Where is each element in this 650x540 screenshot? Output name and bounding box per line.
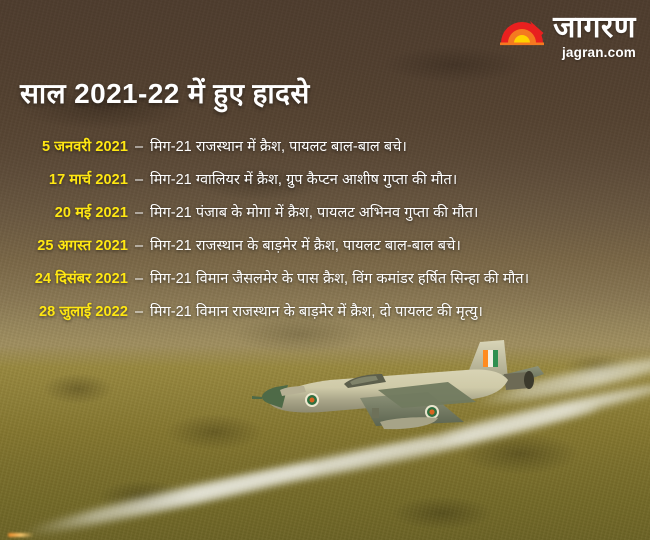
incident-row: 5 जनवरी 2021 – मिग-21 राजस्थान में क्रैश… [0,136,650,169]
incident-dash: – [128,304,150,320]
incident-description: मिग-21 विमान राजस्थान के बाड़मेर में क्र… [150,301,483,321]
incident-dash: – [128,139,150,155]
incident-row: 28 जुलाई 2022 – मिग-21 विमान राजस्थान के… [0,301,650,334]
incident-date: 28 जुलाई 2022 [0,301,128,321]
incident-date: 20 मई 2021 [0,202,128,222]
incident-description: मिग-21 विमान जैसलमेर के पास क्रैश, विंग … [150,268,529,288]
incident-list: 5 जनवरी 2021 – मिग-21 राजस्थान में क्रैश… [0,136,650,334]
header: जागरण jagran.com [0,0,650,74]
incident-date: 25 अगस्त 2021 [0,235,128,255]
mig-21-aircraft [252,330,552,440]
jagran-logo[interactable]: जागरण jagran.com [499,12,636,60]
incident-description: मिग-21 ग्वालियर में क्रैश, ग्रुप कैप्टन … [150,169,457,189]
incident-row: 25 अगस्त 2021 – मिग-21 राजस्थान के बाड़म… [0,235,650,268]
incident-dash: – [128,238,150,254]
incident-description: मिग-21 राजस्थान में क्रैश, पायलट बाल-बाल… [150,136,407,156]
pitot-probe [252,396,262,399]
infographic-canvas: जागरण jagran.com साल 2021-22 में हुए हाद… [0,0,650,540]
incident-description: मिग-21 पंजाब के मोगा में क्रैश, पायलट अभ… [150,202,478,222]
incident-dash: – [128,271,150,287]
wing-pylon [372,408,379,418]
incident-dash: – [128,205,150,221]
incident-date: 24 दिसंबर 2021 [0,268,128,288]
jet-exhaust [524,371,534,389]
incident-description: मिग-21 राजस्थान के बाड़मेर में क्रैश, पा… [150,235,461,255]
logo-domain: jagran.com [562,45,636,60]
incident-date: 17 मार्च 2021 [0,169,128,189]
incident-dash: – [128,172,150,188]
rising-sun-icon [499,12,545,46]
incident-row: 24 दिसंबर 2021 – मिग-21 विमान जैसलमेर के… [0,268,650,301]
incident-row: 20 मई 2021 – मिग-21 पंजाब के मोगा में क्… [0,202,650,235]
incident-date: 5 जनवरी 2021 [0,136,128,156]
exhaust-spark [8,533,34,537]
fin-tricolour-flash [483,350,498,367]
page-title: साल 2021-22 में हुए हादसे [20,77,310,111]
logo-brand-name: जागरण [553,12,636,44]
incident-row: 17 मार्च 2021 – मिग-21 ग्वालियर में क्रै… [0,169,650,202]
